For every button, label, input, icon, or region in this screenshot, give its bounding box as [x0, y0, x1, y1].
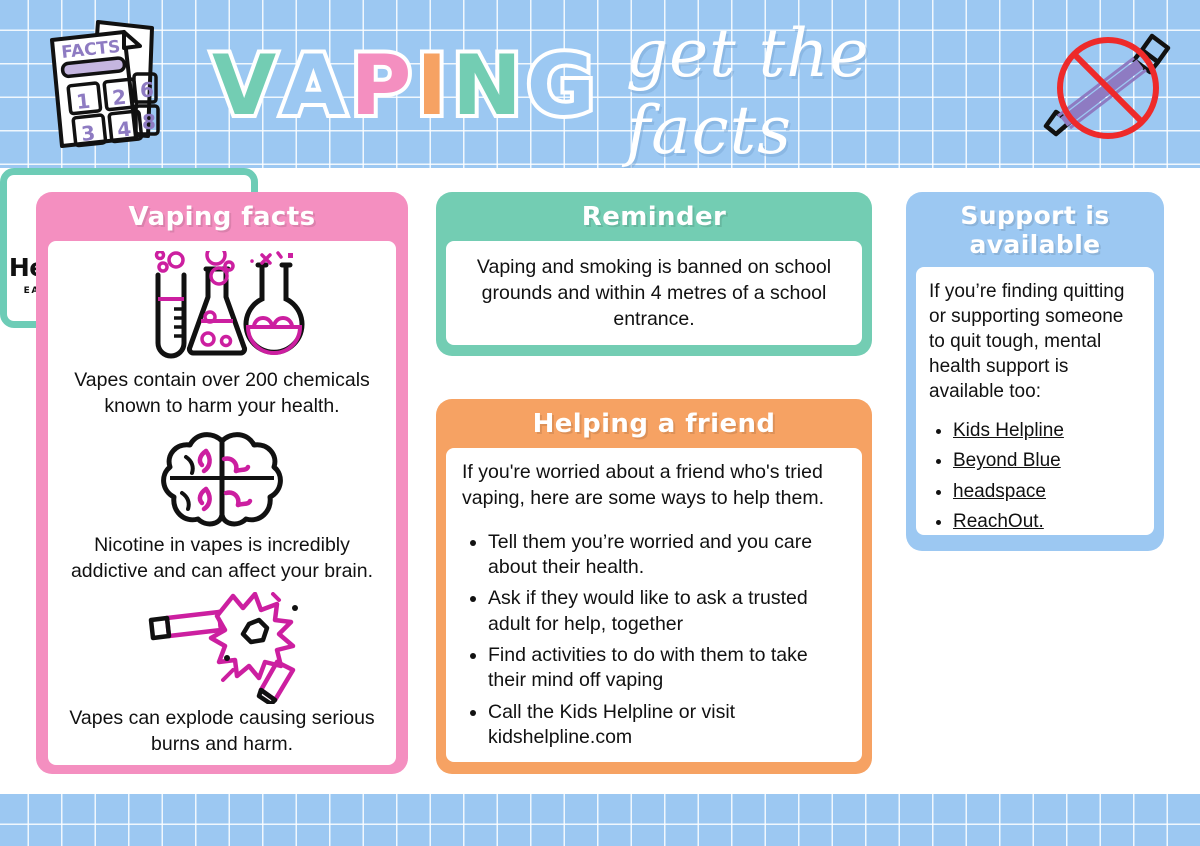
- brain-icon: [60, 427, 384, 531]
- helping-intro-text: If you're worried about a friend who's t…: [462, 460, 846, 511]
- support-link-reachout[interactable]: ReachOut.: [953, 511, 1044, 532]
- title-word-vaping: VAPING: [212, 44, 600, 127]
- poster-title: VAPING get the facts: [212, 24, 1012, 146]
- helping-bullet-4: Call the Kids Helpline or visit kidshelp…: [488, 700, 846, 751]
- fact-item-chemicals: Vapes contain over 200 chemicals known t…: [60, 251, 384, 419]
- card-reminder-body: Vaping and smoking is banned on school g…: [446, 241, 862, 345]
- support-links-list: Kids Helpline Beyond Blue headspace Reac…: [953, 418, 1141, 533]
- content-area: Vaping facts: [0, 168, 1200, 794]
- card-reminder: Reminder Vaping and smoking is banned on…: [436, 192, 872, 356]
- support-intro-text: If you’re finding quitting or supporting…: [929, 279, 1141, 404]
- fact-caption-brain: Nicotine in vapes is incredibly addictiv…: [60, 533, 384, 584]
- card-reminder-title: Reminder: [436, 192, 872, 241]
- exploding-vape-icon: [60, 592, 384, 704]
- svg-text:4: 4: [116, 117, 132, 142]
- card-helping-a-friend: Helping a friend If you're worried about…: [436, 399, 872, 774]
- title-letter-i: I: [416, 44, 452, 127]
- svg-text:1: 1: [75, 89, 91, 114]
- card-support-title: Support is available: [906, 192, 1164, 267]
- facts-clipboard-icon: FACTS 1 2 3 4 6 8: [24, 14, 192, 160]
- svg-text:2: 2: [111, 85, 127, 110]
- title-letter-a: A: [281, 44, 350, 127]
- support-link-item-beyond-blue[interactable]: Beyond Blue: [953, 448, 1141, 473]
- title-script-phrase: get the facts: [626, 15, 1012, 169]
- support-link-item-headspace[interactable]: headspace: [953, 479, 1141, 504]
- footer-band: [0, 794, 1200, 846]
- support-link-headspace[interactable]: headspace: [953, 481, 1046, 502]
- header-banner: FACTS 1 2 3 4 6 8 VAPING: [0, 0, 1200, 168]
- title-letter-g: G: [527, 44, 600, 127]
- fact-item-explode: Vapes can explode causing serious burns …: [60, 592, 384, 757]
- poster-root: FACTS 1 2 3 4 6 8 VAPING: [0, 0, 1200, 846]
- support-link-item-kids-helpline[interactable]: Kids Helpline: [953, 418, 1141, 443]
- fact-caption-explode: Vapes can explode causing serious burns …: [60, 706, 384, 757]
- support-link-kids-helpline[interactable]: Kids Helpline: [953, 420, 1064, 441]
- support-link-item-reachout[interactable]: ReachOut.: [953, 509, 1141, 534]
- card-helping-title: Helping a friend: [436, 399, 872, 448]
- card-vaping-facts: Vaping facts: [36, 192, 408, 774]
- svg-text:3: 3: [80, 121, 96, 146]
- fact-caption-chemicals: Vapes contain over 200 chemicals known t…: [60, 368, 384, 419]
- card-support-body: If you’re finding quitting or supporting…: [916, 267, 1154, 535]
- helping-bullet-1: Tell them you’re worried and you care ab…: [488, 530, 846, 581]
- card-support-available: Support is available If you’re finding q…: [906, 192, 1164, 551]
- card-helping-body: If you're worried about a friend who's t…: [446, 448, 862, 762]
- title-letter-v: V: [212, 44, 281, 127]
- title-letter-p: P: [351, 44, 417, 127]
- svg-text:8: 8: [142, 110, 156, 134]
- helping-bullet-2: Ask if they would like to ask a trusted …: [488, 586, 846, 637]
- card-vaping-facts-title: Vaping facts: [36, 192, 408, 241]
- support-link-beyond-blue[interactable]: Beyond Blue: [953, 450, 1061, 471]
- lab-flasks-icon: [60, 251, 384, 366]
- no-vaping-icon: [1034, 20, 1186, 156]
- helping-bullet-3: Find activities to do with them to take …: [488, 643, 846, 694]
- title-letter-n: N: [452, 44, 526, 127]
- helping-bullet-list: Tell them you’re worried and you care ab…: [488, 530, 846, 751]
- svg-text:6: 6: [140, 78, 154, 102]
- card-vaping-facts-body: Vapes contain over 200 chemicals known t…: [48, 241, 396, 765]
- fact-item-brain: Nicotine in vapes is incredibly addictiv…: [60, 427, 384, 584]
